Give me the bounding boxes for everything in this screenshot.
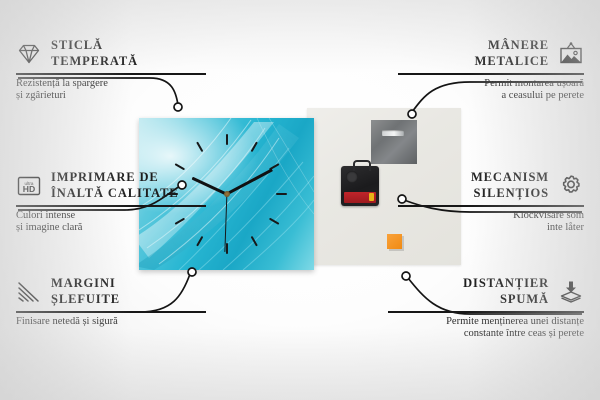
infographic-canvas: STICLĂ TEMPERATĂ Rezistență la spargere …: [0, 0, 600, 400]
tick-6: [226, 243, 228, 254]
callout-rule: [16, 311, 206, 313]
diamond-icon: [16, 41, 42, 67]
ultra-hd-icon: ultra HD: [16, 173, 42, 199]
callout-rule: [398, 73, 584, 75]
callout-rule: [398, 205, 584, 207]
callout-subtitle: Permit montarea ușoară a ceasului pe per…: [398, 78, 584, 103]
clock-hub: [224, 191, 230, 197]
mechanism-dial: [346, 171, 358, 183]
gear-icon: [558, 173, 584, 199]
callout-title: DISTANȚIER SPUMĂ: [463, 276, 549, 307]
tick-1: [250, 142, 257, 153]
metal-hanger: [371, 120, 417, 164]
quartz-mechanism: [341, 166, 379, 206]
callout-mecanism-silentios[interactable]: MECANISM SILENȚIOS Klockvisare som inte …: [398, 170, 584, 235]
callout-subtitle: Culori intense și imagine clară: [16, 210, 206, 235]
tick-5: [250, 236, 257, 247]
tick-12: [226, 134, 228, 145]
callout-title: IMPRIMARE DE ÎNALTĂ CALITATE: [51, 170, 179, 201]
callout-margini-slefuite[interactable]: MARGINI ȘLEFUITE Finisare netedă și sigu…: [16, 276, 206, 328]
tick-3: [276, 193, 287, 195]
foam-spacer-icon: [558, 279, 584, 305]
callout-distantier-spuma[interactable]: DISTANȚIER SPUMĂ Permite menținerea unei…: [388, 276, 584, 341]
callout-subtitle: Permite menținerea unei distanțe constan…: [388, 316, 584, 341]
callout-subtitle: Rezistență la spargere și zgârieturi: [16, 78, 206, 103]
foam-spacer: [387, 234, 402, 249]
beveled-edge-icon: [16, 279, 42, 305]
callout-imprimare-hd[interactable]: ultra HD IMPRIMARE DE ÎNALTĂ CALITATE Cu…: [16, 170, 206, 235]
callout-rule: [388, 311, 584, 313]
callout-title: STICLĂ TEMPERATĂ: [51, 38, 138, 69]
callout-rule: [16, 73, 206, 75]
callout-title: MÂNERE METALICE: [475, 38, 549, 69]
callout-sticla-temperata[interactable]: STICLĂ TEMPERATĂ Rezistență la spargere …: [16, 38, 206, 103]
callout-title: MECANISM SILENȚIOS: [471, 170, 549, 201]
callout-rule: [16, 205, 206, 207]
callout-subtitle: Klockvisare som inte låter: [398, 210, 584, 235]
callout-title: MARGINI ȘLEFUITE: [51, 276, 120, 307]
ultra-hd-big-label: HD: [23, 184, 35, 194]
tick-11: [196, 142, 203, 153]
tick-7: [196, 236, 203, 247]
picture-hanger-icon: [558, 41, 584, 67]
hanger-slot: [382, 130, 404, 136]
mechanism-hook: [353, 160, 371, 171]
tick-4: [268, 218, 279, 225]
callout-manere-metalice[interactable]: MÂNERE METALICE Permit montarea ușoară a…: [398, 38, 584, 103]
battery: [344, 192, 376, 203]
minute-hand: [226, 168, 273, 195]
callout-subtitle: Finisare netedă și sigură: [16, 316, 206, 329]
